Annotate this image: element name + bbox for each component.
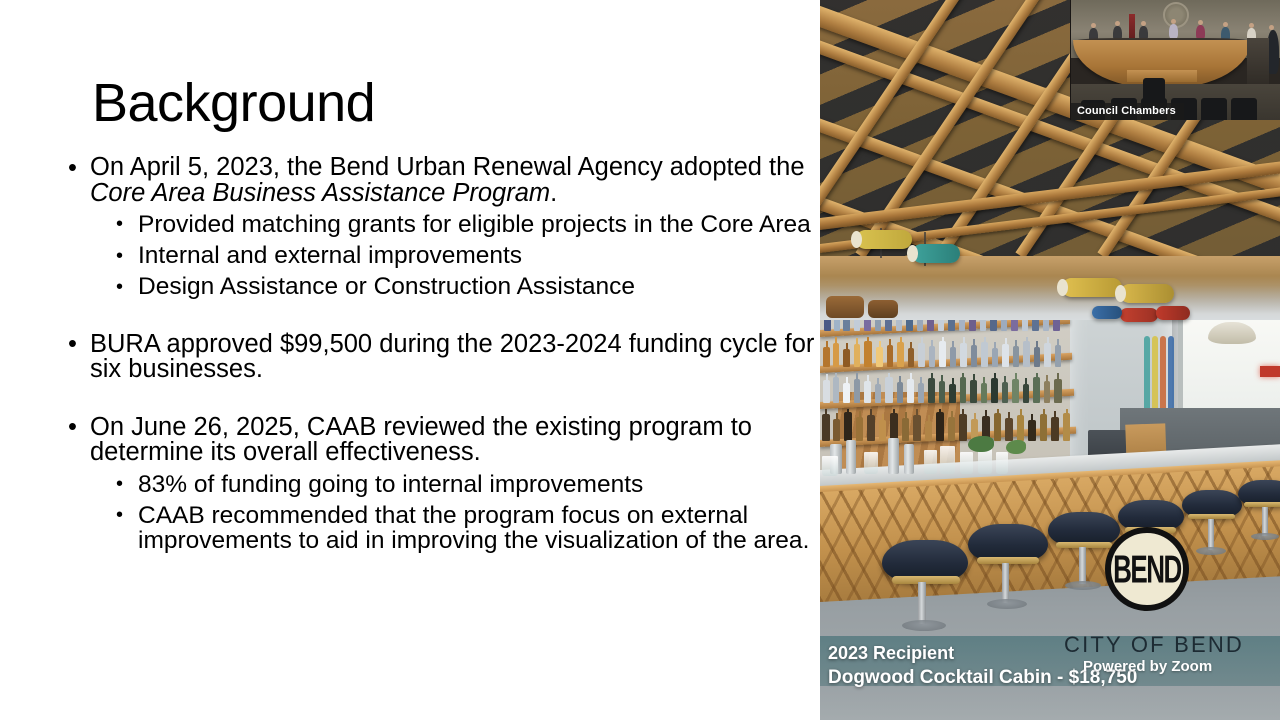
chair xyxy=(1231,98,1257,120)
bullet-level1: • BURA approved $99,500 during the 2023-… xyxy=(60,332,820,383)
stool-base xyxy=(987,599,1027,609)
stool-post xyxy=(918,582,926,624)
bullet-level2-text: Design Assistance or Construction Assist… xyxy=(138,273,635,300)
stool-base xyxy=(1251,533,1279,540)
bottle-row xyxy=(820,373,1074,403)
bullet-level1: • On April 5, 2023, the Bend Urban Renew… xyxy=(60,155,820,206)
pip-label: Council Chambers xyxy=(1071,103,1184,120)
bullet-dot-icon: • xyxy=(116,472,123,497)
stool-post xyxy=(1002,563,1009,603)
glassware xyxy=(864,452,878,474)
bullet-dot-icon: • xyxy=(68,156,77,182)
stool-post xyxy=(1079,547,1086,584)
stool-post xyxy=(1262,507,1268,536)
lower-third-band-secondary xyxy=(820,686,1280,720)
bullet-level1-text: BURA approved $99,500 during the 2023-20… xyxy=(90,330,814,384)
plant xyxy=(1006,440,1026,454)
stool-base xyxy=(902,620,946,631)
glassware xyxy=(924,450,937,474)
council-member xyxy=(1169,24,1178,39)
plant xyxy=(968,436,994,452)
stool-post xyxy=(1208,519,1214,550)
hanging-lamp xyxy=(1120,284,1174,303)
bullet-level2: • 83% of funding going to internal impro… xyxy=(60,472,820,497)
bullet-level2-text: CAAB recommended that the program focus … xyxy=(138,502,809,554)
hanging-lamp xyxy=(1156,306,1190,320)
hanging-lamp xyxy=(912,244,960,263)
bullet-dot-icon: • xyxy=(116,503,123,528)
bullet-level2: • Provided matching grants for eligible … xyxy=(60,212,820,237)
glassware xyxy=(940,446,955,474)
exit-sign xyxy=(1260,366,1280,377)
chair xyxy=(1143,78,1165,100)
bullet-level1-text-a: On April 5, 2023, the Bend Urban Renewal… xyxy=(90,153,805,181)
stool-brass-ring xyxy=(892,576,960,584)
bottle-row xyxy=(820,409,1076,441)
picture-in-picture-council-chambers[interactable]: Council Chambers xyxy=(1070,0,1280,120)
bullet-level1: • On June 26, 2025, CAAB reviewed the ex… xyxy=(60,415,820,466)
glassware xyxy=(996,452,1008,474)
bullet-level2: • CAAB recommended that the program focu… xyxy=(60,503,820,553)
bullet-group-3: • On June 26, 2025, CAAB reviewed the ex… xyxy=(60,415,820,554)
bar-stool xyxy=(1182,490,1242,560)
bar-stool xyxy=(1238,480,1280,546)
barrel-decor xyxy=(868,300,898,318)
pendant-lamp-shade xyxy=(1208,322,1256,344)
chair xyxy=(1201,98,1227,120)
bullet-level1-text-b: . xyxy=(550,179,557,207)
bullet-dot-icon: • xyxy=(68,332,77,358)
bullet-dot-icon: • xyxy=(68,415,77,441)
bend-logo-watermark: BEND xyxy=(1105,527,1189,611)
bullet-level2: • Internal and external improvements xyxy=(60,243,820,268)
bullet-level1-text-italic: Core Area Business Assistance Program xyxy=(90,179,550,207)
shaker xyxy=(846,440,856,474)
presentation-screen: Background • On April 5, 2023, the Bend … xyxy=(0,0,1280,720)
glassware xyxy=(822,456,838,476)
barrel-decor xyxy=(826,296,864,318)
slide-bullet-body: • On April 5, 2023, the Bend Urban Renew… xyxy=(60,155,820,553)
spacer xyxy=(60,300,820,332)
stool-base xyxy=(1196,547,1226,555)
bar-stool xyxy=(882,540,968,628)
bullet-dot-icon: • xyxy=(116,244,123,269)
spacer xyxy=(60,385,820,415)
bullet-level2: • Design Assistance or Construction Assi… xyxy=(60,274,820,299)
bottle-row xyxy=(820,337,1072,367)
bullet-group-1: • On April 5, 2023, the Bend Urban Renew… xyxy=(60,155,820,300)
powered-by-zoom-label: Powered by Zoom xyxy=(1083,658,1212,675)
hanging-lamp xyxy=(856,230,912,249)
bullet-level2-text: 83% of funding going to internal improve… xyxy=(138,471,643,498)
stool-base xyxy=(1065,581,1101,590)
slide-content-pane: Background • On April 5, 2023, the Bend … xyxy=(0,0,820,720)
bullet-group-2: • BURA approved $99,500 during the 2023-… xyxy=(60,332,820,383)
page-title: Background xyxy=(92,74,375,133)
bullet-level2-text: Internal and external improvements xyxy=(138,242,522,269)
bend-logo-text: BEND xyxy=(1113,546,1181,593)
hanging-lamp xyxy=(1092,306,1122,319)
hanging-lamp xyxy=(1120,308,1158,322)
shaker xyxy=(888,438,899,474)
bar-stool xyxy=(968,524,1048,608)
stool-seat xyxy=(1048,512,1120,546)
glassware xyxy=(960,452,973,474)
bullet-dot-icon: • xyxy=(116,212,123,237)
bullet-level2-text: Provided matching grants for eligible pr… xyxy=(138,211,811,238)
hanging-lamp xyxy=(1062,278,1122,297)
video-feed-pane[interactable]: Council Chambers xyxy=(820,0,1280,720)
shaker xyxy=(904,444,914,474)
bullet-level1-text: On June 26, 2025, CAAB reviewed the exis… xyxy=(90,413,752,467)
bullet-dot-icon: • xyxy=(116,275,123,300)
